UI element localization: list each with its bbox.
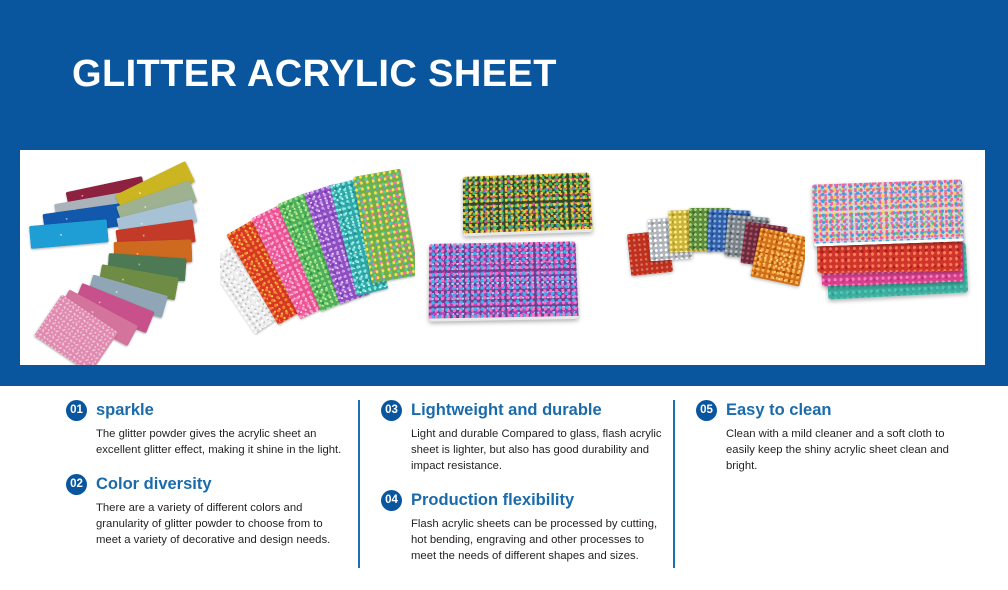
- product-photo-strip: [20, 150, 985, 365]
- photo-glitter-flat-sheets: [415, 150, 615, 365]
- feature-heading: 01 sparkle: [66, 400, 346, 421]
- feature-heading: 05 Easy to clean: [696, 400, 961, 421]
- feature-body: There are a variety of different colors …: [96, 500, 346, 548]
- feature-body: Clean with a mild cleaner and a soft clo…: [726, 426, 961, 474]
- feature-heading: 02 Color diversity: [66, 474, 346, 495]
- column-divider-2: [673, 400, 675, 568]
- feature-title: sparkle: [96, 401, 154, 420]
- column-divider-1: [358, 400, 360, 568]
- feature-number-badge: 05: [696, 400, 717, 421]
- feature-column-1: 01 sparkle The glitter powder gives the …: [66, 400, 346, 564]
- page-title: GLITTER ACRYLIC SHEET: [72, 54, 557, 96]
- feature-heading: 03 Lightweight and durable: [381, 400, 666, 421]
- feature-title: Easy to clean: [726, 401, 831, 420]
- features-section: 01 sparkle The glitter powder gives the …: [0, 386, 1008, 590]
- feature-title: Production flexibility: [411, 491, 574, 510]
- photo-glitter-square-fan: [615, 150, 805, 365]
- feature-heading: 04 Production flexibility: [381, 490, 666, 511]
- feature-title: Lightweight and durable: [411, 401, 602, 420]
- feature-item: 04 Production flexibility Flash acrylic …: [381, 490, 666, 564]
- feature-item: 02 Color diversity There are a variety o…: [66, 474, 346, 548]
- feature-column-2: 03 Lightweight and durable Light and dur…: [381, 400, 666, 580]
- feature-title: Color diversity: [96, 475, 212, 494]
- feature-number-badge: 01: [66, 400, 87, 421]
- feature-number-badge: 04: [381, 490, 402, 511]
- feature-number-badge: 02: [66, 474, 87, 495]
- photo-glitter-sheet-stack: [805, 150, 985, 365]
- feature-item: 03 Lightweight and durable Light and dur…: [381, 400, 666, 474]
- feature-item: 01 sparkle The glitter powder gives the …: [66, 400, 346, 458]
- photo-glitter-sample-chip-fan: [20, 150, 220, 365]
- feature-body: Flash acrylic sheets can be processed by…: [411, 516, 666, 564]
- feature-number-badge: 03: [381, 400, 402, 421]
- feature-column-3: 05 Easy to clean Clean with a mild clean…: [696, 400, 961, 490]
- hero-banner: GLITTER ACRYLIC SHEET: [0, 0, 1008, 386]
- photo-glitter-strip-overlap: [220, 150, 415, 365]
- product-infographic-page: GLITTER ACRYLIC SHEET: [0, 0, 1008, 590]
- feature-body: Light and durable Compared to glass, fla…: [411, 426, 666, 474]
- feature-body: The glitter powder gives the acrylic she…: [96, 426, 346, 458]
- feature-item: 05 Easy to clean Clean with a mild clean…: [696, 400, 961, 474]
